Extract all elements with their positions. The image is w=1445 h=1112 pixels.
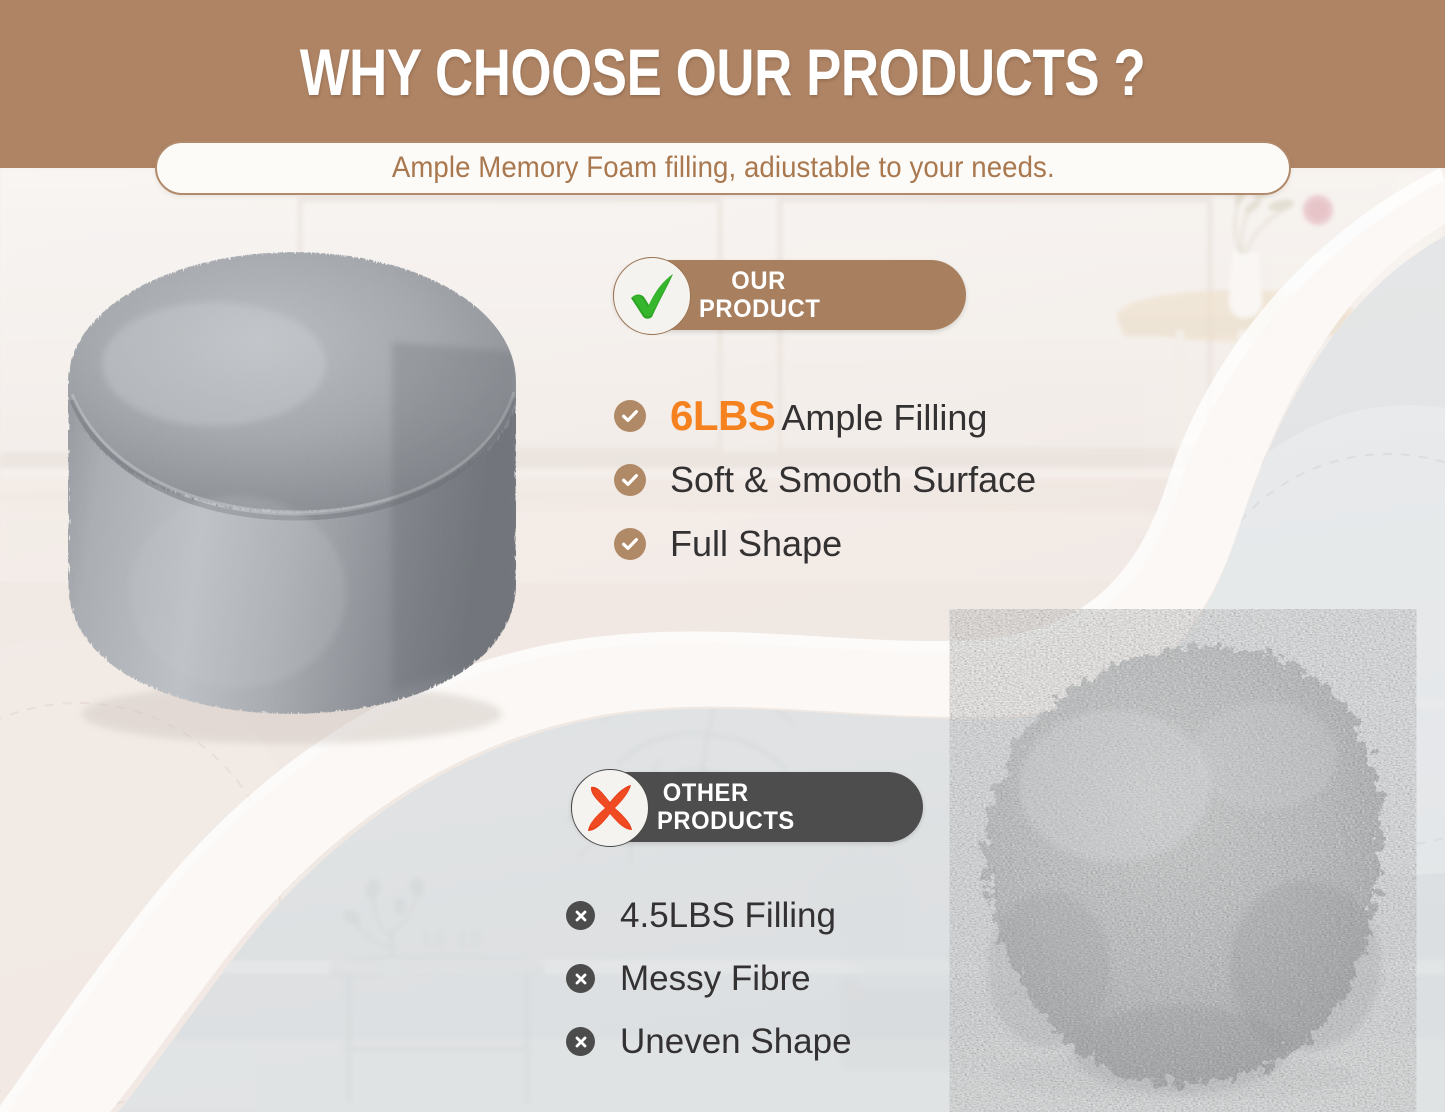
list-item-text: Uneven Shape: [620, 1022, 852, 1062]
list-item: Soft & Smooth Surface: [614, 448, 1036, 512]
green-check-icon: [613, 257, 691, 335]
list-item: 4.5LBS Filling: [566, 884, 852, 947]
list-item-label: Ample Filling: [781, 397, 987, 438]
our-product-badge-label: OUR PRODUCT: [699, 269, 820, 322]
list-item: Full Shape: [614, 512, 1036, 576]
other-products-badge-line1: OTHER: [663, 781, 795, 806]
highlight-weight: 6LBS: [670, 392, 775, 439]
other-products-badge[interactable]: OTHER PRODUCTS: [571, 772, 923, 842]
other-product-photo: [985, 646, 1382, 1100]
list-item-text: 6LBSAmple Filling: [670, 392, 987, 440]
list-item: 6LBSAmple Filling: [614, 384, 1036, 448]
our-product-feature-list: 6LBSAmple Filling Soft & Smooth Surface …: [614, 384, 1036, 576]
list-item-text: Full Shape: [670, 523, 842, 565]
other-products-badge-label: OTHER PRODUCTS: [657, 781, 795, 834]
subtitle-pill: Ample Memory Foam filling, adiustable to…: [155, 141, 1291, 195]
cross-icon: [566, 964, 595, 993]
subtitle-text: Ample Memory Foam filling, adiustable to…: [392, 151, 1055, 185]
check-icon: [614, 464, 646, 496]
cross-icon: [566, 1027, 595, 1056]
our-product-badge-line1: OUR: [731, 269, 820, 294]
list-item: Uneven Shape: [566, 1010, 852, 1073]
list-item-text: Messy Fibre: [620, 959, 811, 999]
svg-text:16 18: 16 18: [420, 928, 485, 950]
other-products-badge-line2: PRODUCTS: [657, 809, 795, 834]
red-cross-icon: [571, 769, 649, 847]
our-product-badge[interactable]: OUR PRODUCT: [613, 260, 966, 330]
cross-icon: [566, 901, 595, 930]
page-title: WHY CHOOSE OUR PRODUCTS ?: [145, 34, 1301, 110]
other-products-feature-list: 4.5LBS Filling Messy Fibre Uneven Shape: [566, 884, 852, 1073]
infographic-canvas: 16 18: [0, 0, 1445, 1112]
our-product-badge-line2: PRODUCT: [699, 297, 820, 322]
check-icon: [614, 528, 646, 560]
check-icon: [614, 400, 646, 432]
list-item: Messy Fibre: [566, 947, 852, 1010]
list-item-text: Soft & Smooth Surface: [670, 459, 1036, 501]
list-item-text: 4.5LBS Filling: [620, 896, 836, 936]
